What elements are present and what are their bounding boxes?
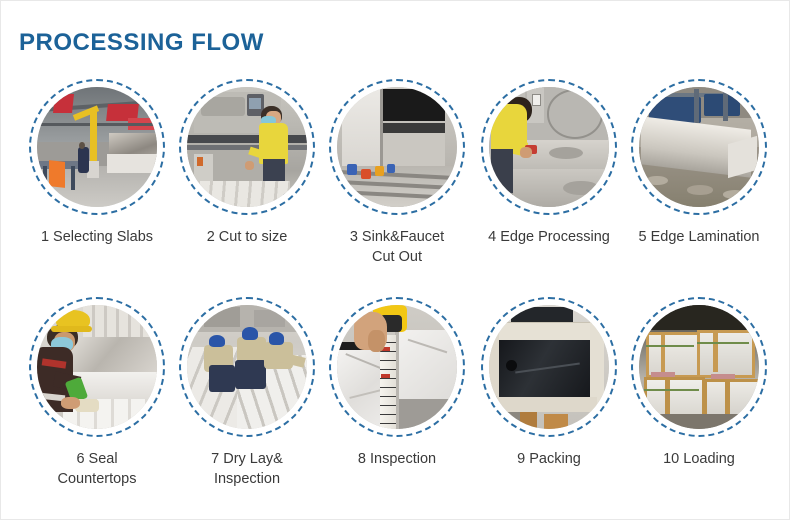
- step-9-circle-frame: [481, 297, 617, 437]
- step-5-circle-frame: [631, 79, 767, 215]
- flow-step-7[interactable]: 7 Dry Lay& Inspection: [173, 297, 321, 489]
- step-9-caption: 9 Packing: [517, 449, 581, 469]
- step-4-photo: [489, 87, 609, 207]
- step-8-caption: 8 Inspection: [358, 449, 436, 469]
- step-8-circle-frame: [329, 297, 465, 437]
- step-2-circle-frame: [179, 79, 315, 215]
- step-1-circle-frame: [29, 79, 165, 215]
- step-9-photo: [489, 305, 609, 429]
- step-7-photo: [187, 305, 307, 429]
- flow-step-5[interactable]: 5 Edge Lamination: [625, 79, 773, 267]
- step-6-photo: [37, 305, 157, 429]
- step-3-photo: [337, 87, 457, 207]
- step-2-photo: [187, 87, 307, 207]
- step-8-photo: [337, 305, 457, 429]
- flow-step-9[interactable]: 9 Packing: [475, 297, 623, 489]
- flow-step-1[interactable]: 1 Selecting Slabs: [23, 79, 171, 267]
- flow-step-10[interactable]: 10 Loading: [625, 297, 773, 489]
- step-10-circle-frame: [631, 297, 767, 437]
- step-10-caption: 10 Loading: [663, 449, 735, 469]
- step-7-caption: 7 Dry Lay& Inspection: [211, 449, 283, 489]
- step-3-caption: 3 Sink&Faucet Cut Out: [350, 227, 444, 267]
- step-1-photo: [37, 87, 157, 207]
- step-3-circle-frame: [329, 79, 465, 215]
- step-7-circle-frame: [179, 297, 315, 437]
- page-title: PROCESSING FLOW: [19, 29, 264, 57]
- flow-step-6[interactable]: 6 Seal Countertops: [23, 297, 171, 489]
- step-1-caption: 1 Selecting Slabs: [41, 227, 153, 247]
- step-6-circle-frame: [29, 297, 165, 437]
- step-5-photo: [639, 87, 759, 207]
- flow-row-1: 1 Selecting Slabs 2 Cut to size: [1, 79, 790, 267]
- step-10-photo: [639, 305, 759, 429]
- step-6-caption: 6 Seal Countertops: [58, 449, 137, 489]
- step-5-caption: 5 Edge Lamination: [604, 227, 790, 247]
- step-2-caption: 2 Cut to size: [207, 227, 288, 247]
- flow-step-8[interactable]: 8 Inspection: [323, 297, 471, 489]
- flow-row-2: 6 Seal Countertops 7 Dry Lay& Inspection: [1, 297, 790, 489]
- flow-step-2[interactable]: 2 Cut to size: [173, 79, 321, 267]
- processing-flow-page: PROCESSING FLOW 1 Selecting Slabs: [0, 0, 790, 520]
- step-4-circle-frame: [481, 79, 617, 215]
- flow-step-4[interactable]: 4 Edge Processing: [475, 79, 623, 267]
- flow-step-3[interactable]: 3 Sink&Faucet Cut Out: [323, 79, 471, 267]
